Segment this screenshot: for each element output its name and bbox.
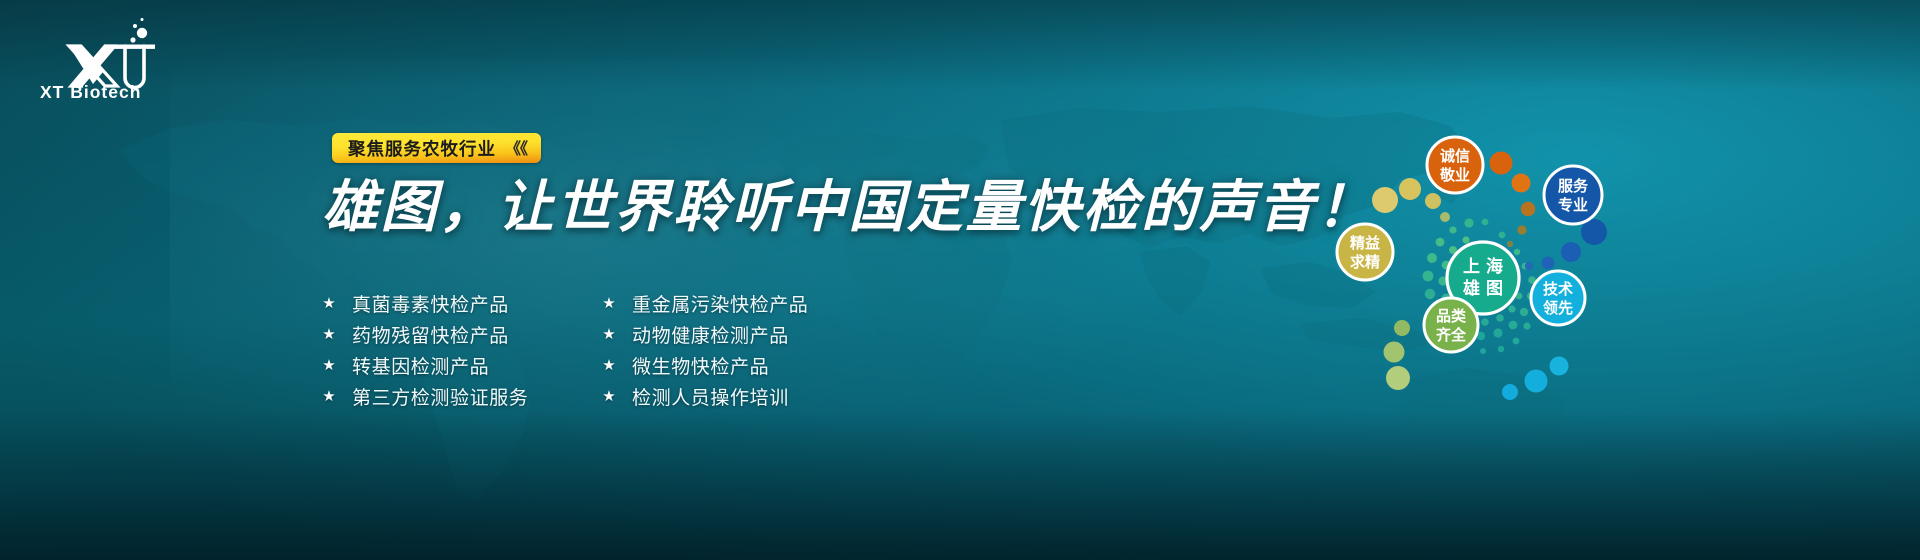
star-icon: ★ [322, 358, 336, 373]
star-icon: ★ [602, 358, 616, 373]
brand-name: XT Biotech [40, 82, 141, 103]
list-item[interactable]: ★ 重金属污染快检产品 [602, 288, 882, 319]
list-item-label: 重金属污染快检产品 [632, 290, 808, 317]
bubble-excellence[interactable]: 精益 求精 [1337, 224, 1393, 280]
blue-dot-arc [1525, 219, 1607, 270]
bubble-center-line1: 上 海 [1463, 256, 1503, 277]
star-icon: ★ [602, 389, 616, 404]
bubble-variety-line1: 品类 [1436, 307, 1467, 325]
list-item-label: 药物残留快检产品 [352, 321, 509, 348]
bubble-service-line2: 专业 [1558, 196, 1588, 214]
bubble-technology-line1: 技术 [1543, 280, 1573, 298]
bubble-variety-line2: 齐全 [1436, 326, 1467, 344]
cyan-dot-arc [1502, 357, 1569, 401]
star-icon: ★ [322, 389, 336, 404]
star-icon: ★ [322, 327, 336, 342]
list-item[interactable]: ★ 药物残留快检产品 [322, 319, 602, 350]
focus-badge[interactable]: 聚焦服务农牧行业 《《 [332, 133, 541, 163]
bubble-variety[interactable]: 品类 齐全 [1424, 298, 1478, 352]
list-item[interactable]: ★ 检测人员操作培训 [602, 381, 882, 412]
list-item[interactable]: ★ 真菌毒素快检产品 [322, 288, 602, 319]
bubble-excellence-line1: 精益 [1350, 234, 1380, 252]
bottom-vignette [0, 410, 1920, 560]
star-icon: ★ [602, 327, 616, 342]
chevron-left-icon: 《《 [505, 135, 527, 159]
star-icon: ★ [322, 296, 336, 311]
bubble-center-line2: 雄 图 [1462, 278, 1503, 299]
world-map-watermark [0, 0, 1920, 560]
list-item-label: 检测人员操作培训 [632, 383, 789, 410]
bubble-service[interactable]: 服务 专业 [1544, 166, 1602, 224]
list-item[interactable]: ★ 第三方检测验证服务 [322, 381, 602, 412]
list-item-label: 第三方检测验证服务 [352, 383, 528, 410]
list-item-label: 动物健康检测产品 [632, 321, 789, 348]
list-item-label: 转基因检测产品 [352, 352, 489, 379]
bubble-excellence-line2: 求精 [1350, 253, 1380, 271]
bubble-integrity-line1: 诚信 [1440, 147, 1470, 165]
feature-list: ★ 真菌毒素快检产品 ★ 重金属污染快检产品 ★ 药物残留快检产品 ★ 动物健康… [322, 288, 882, 412]
list-item[interactable]: ★ 转基因检测产品 [322, 350, 602, 381]
values-bubble-diagram: 上 海 雄 图 诚信 敬业 服务 专业 精益 求精 [1320, 130, 1620, 420]
bubble-service-line1: 服务 [1558, 177, 1589, 195]
bubble-integrity[interactable]: 诚信 敬业 [1427, 137, 1483, 193]
bubble-technology[interactable]: 技术 领先 [1531, 271, 1585, 325]
orange-dot-arc [1490, 152, 1536, 248]
top-vignette [0, 0, 1920, 90]
xt-test-tube-logo [69, 18, 155, 88]
list-item-label: 微生物快检产品 [632, 352, 769, 379]
olive-dot-arc [1384, 320, 1411, 390]
list-item[interactable]: ★ 动物健康检测产品 [602, 319, 882, 350]
page-title: 雄图，让世界聆听中国定量快检的声音！ [322, 180, 1375, 236]
focus-badge-label: 聚焦服务农牧行业 [348, 136, 496, 161]
bubble-technology-line2: 领先 [1542, 299, 1573, 317]
list-item-label: 真菌毒素快检产品 [352, 290, 509, 317]
promo-banner: XT Biotech 聚焦服务农牧行业 《《 雄图，让世界聆听中国定量快检的声音… [0, 0, 1920, 560]
bubble-integrity-line2: 敬业 [1439, 166, 1470, 184]
star-icon: ★ [602, 296, 616, 311]
list-item[interactable]: ★ 微生物快检产品 [602, 350, 882, 381]
